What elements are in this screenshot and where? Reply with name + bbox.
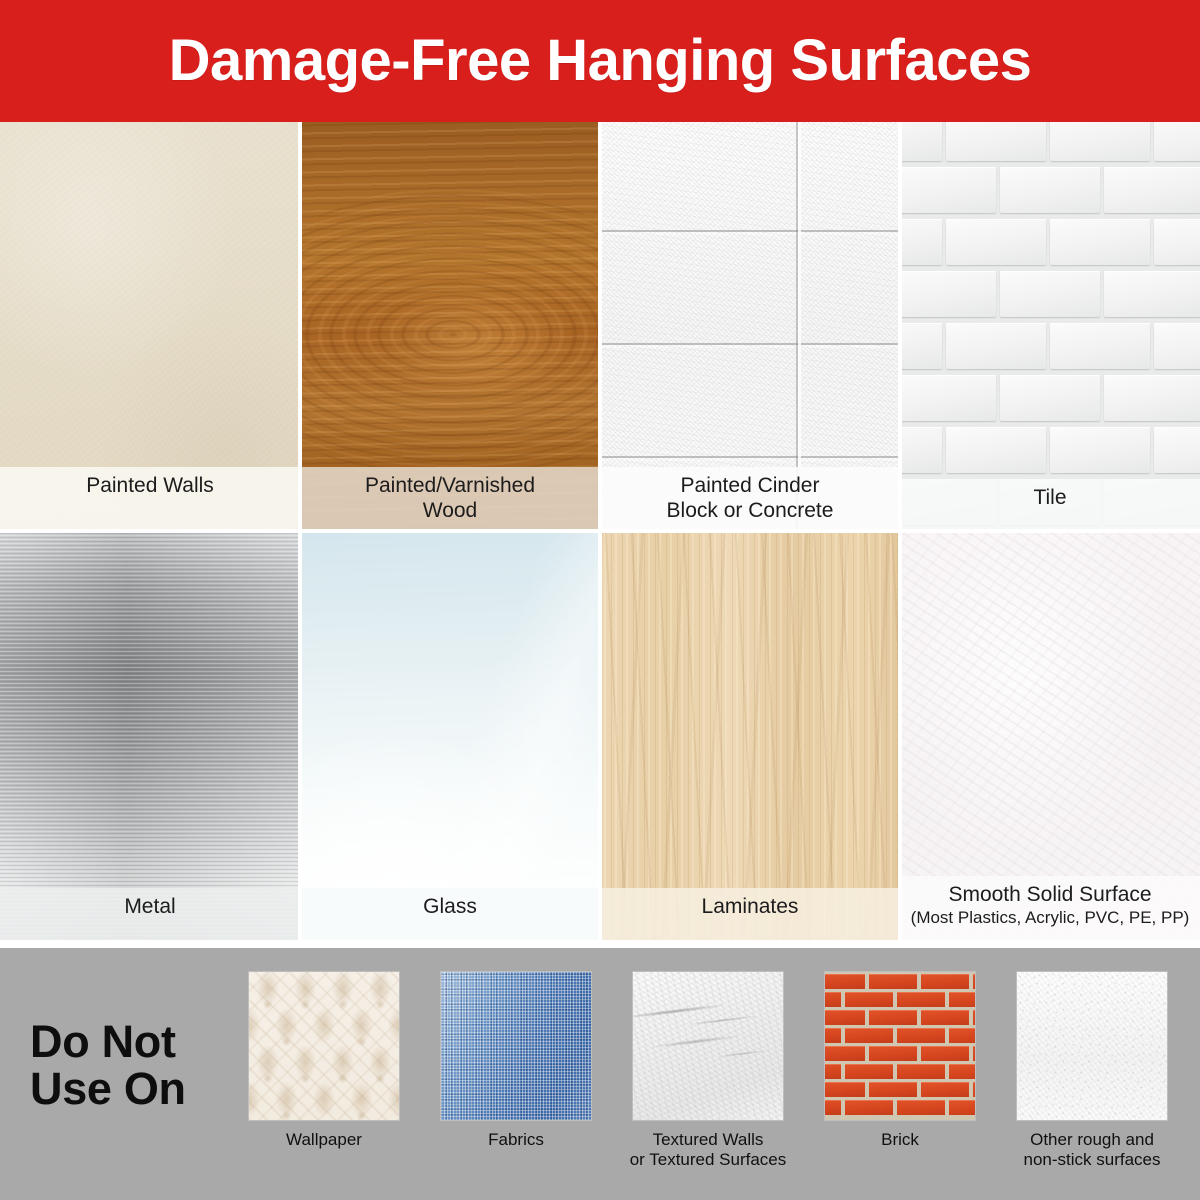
surface-label-painted-cinder-block: Painted Cinder Block or Concrete	[600, 467, 900, 531]
do-not-use-title-line2: Use On	[30, 1065, 186, 1112]
surface-label-painted-walls: Painted Walls	[0, 467, 300, 531]
surface-card-smooth-solid-surface[interactable]: Smooth Solid Surface (Most Plastics, Acr…	[900, 531, 1200, 940]
surface-sublabel-text: Wood	[306, 498, 594, 523]
approved-surfaces-grid: Painted Walls Painted/Varnished Wood Pai…	[0, 122, 1200, 940]
wallpaper-swatch	[249, 972, 399, 1120]
do-not-use-item-fabrics[interactable]: Fabrics	[420, 972, 612, 1170]
brick-swatch	[825, 972, 975, 1120]
brushed-metal-texture	[0, 531, 300, 940]
surface-card-glass[interactable]: Glass	[300, 531, 600, 940]
do-not-use-label-textured-walls: Textured Walls or Textured Surfaces	[630, 1130, 787, 1170]
do-not-use-item-brick[interactable]: Brick	[804, 972, 996, 1170]
header-banner: Damage-Free Hanging Surfaces	[0, 0, 1200, 122]
do-not-use-item-textured-walls[interactable]: Textured Walls or Textured Surfaces	[612, 972, 804, 1170]
glass-texture	[300, 531, 600, 940]
grid-divider-vertical	[898, 122, 902, 531]
surface-label-tile: Tile	[900, 479, 1200, 531]
grid-divider-vertical	[598, 531, 602, 940]
surface-label-smooth-solid-surface: Smooth Solid Surface (Most Plastics, Acr…	[900, 876, 1200, 940]
do-not-use-label-text: Fabrics	[488, 1130, 544, 1149]
page-title: Damage-Free Hanging Surfaces	[169, 32, 1032, 90]
surface-label-metal: Metal	[0, 888, 300, 940]
do-not-use-label-brick: Brick	[881, 1130, 919, 1150]
surface-label-text: Glass	[423, 895, 477, 918]
subway-tile-texture	[900, 122, 1200, 531]
rough-surface-swatch	[1017, 972, 1167, 1120]
surface-label-text: Smooth Solid Surface	[948, 883, 1151, 906]
surface-label-text: Laminates	[702, 895, 799, 918]
do-not-use-label-text: Other rough and	[1030, 1130, 1154, 1149]
do-not-use-label-fabrics: Fabrics	[488, 1130, 544, 1150]
do-not-use-title: Do Not Use On	[30, 1018, 186, 1112]
surface-label-text: Metal	[124, 895, 175, 918]
grid-divider-horizontal	[0, 529, 1200, 533]
infographic-page: Damage-Free Hanging Surfaces Painted Wal…	[0, 0, 1200, 1200]
grid-divider-vertical	[898, 531, 902, 940]
do-not-use-sublabel-text: or Textured Surfaces	[630, 1150, 787, 1169]
do-not-use-item-wallpaper[interactable]: Wallpaper	[228, 972, 420, 1170]
surface-label-text: Painted/Varnished	[365, 474, 535, 497]
do-not-use-label-other-rough: Other rough and non-stick surfaces	[1024, 1130, 1161, 1170]
surface-card-painted-walls[interactable]: Painted Walls	[0, 122, 300, 531]
grid-divider-vertical	[598, 122, 602, 531]
do-not-use-label-wallpaper: Wallpaper	[286, 1130, 362, 1150]
fabric-swatch	[441, 972, 591, 1120]
do-not-use-item-other-rough[interactable]: Other rough and non-stick surfaces	[996, 972, 1188, 1170]
surface-card-metal[interactable]: Metal	[0, 531, 300, 940]
do-not-use-items: Wallpaper Fabrics Textured Walls or Text…	[228, 972, 1188, 1170]
surface-label-laminates: Laminates	[600, 888, 900, 940]
surface-label-glass: Glass	[300, 888, 600, 940]
textured-wall-swatch	[633, 972, 783, 1120]
do-not-use-label-text: Wallpaper	[286, 1130, 362, 1149]
surface-label-text: Tile	[1033, 486, 1066, 509]
do-not-use-title-line1: Do Not	[30, 1018, 186, 1065]
grid-divider-vertical	[298, 531, 302, 940]
grid-divider-vertical	[298, 122, 302, 531]
surface-sublabel-text: Block or Concrete	[606, 498, 894, 523]
surface-card-painted-cinder-block[interactable]: Painted Cinder Block or Concrete	[600, 122, 900, 531]
surface-card-tile[interactable]: Tile	[900, 122, 1200, 531]
surface-card-painted-varnished-wood[interactable]: Painted/Varnished Wood	[300, 122, 600, 531]
surface-sublabel-text: (Most Plastics, Acrylic, PVC, PE, PP)	[906, 907, 1194, 928]
laminate-wood-texture	[600, 531, 900, 940]
surface-label-text: Painted Cinder	[681, 474, 820, 497]
do-not-use-sublabel-text: non-stick surfaces	[1024, 1150, 1161, 1169]
surface-label-text: Painted Walls	[86, 474, 214, 497]
surface-card-laminates[interactable]: Laminates	[600, 531, 900, 940]
surface-label-painted-varnished-wood: Painted/Varnished Wood	[300, 467, 600, 531]
do-not-use-label-text: Textured Walls	[653, 1130, 764, 1149]
do-not-use-label-text: Brick	[881, 1130, 919, 1149]
